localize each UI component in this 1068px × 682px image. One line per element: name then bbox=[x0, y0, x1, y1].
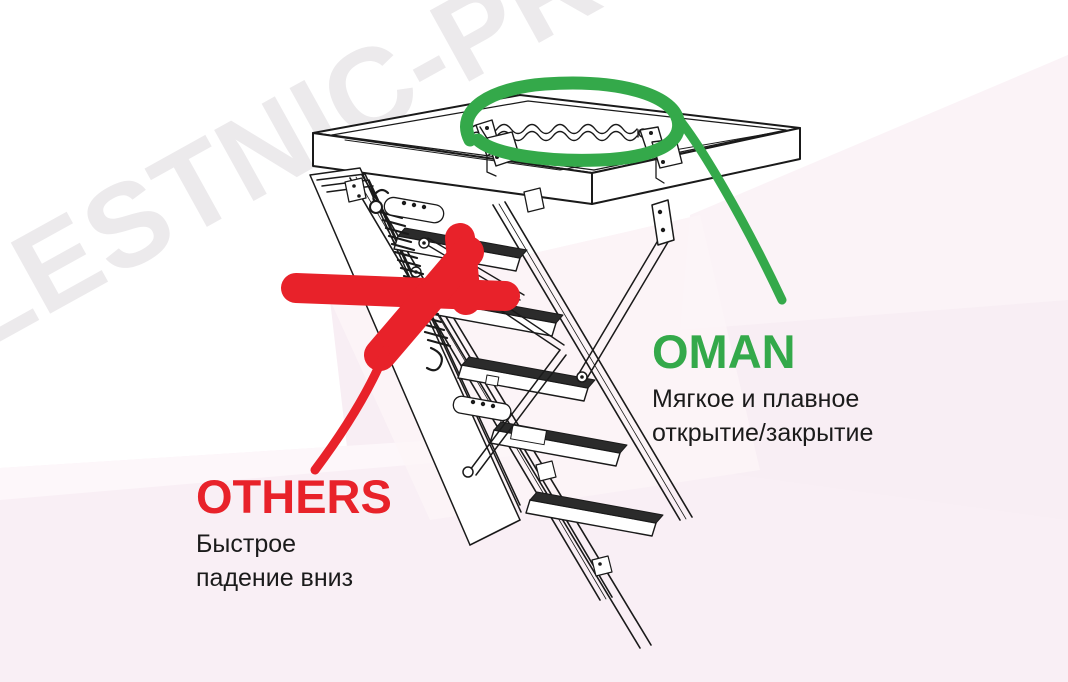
infographic-canvas: LESTNIC-PROSTO.RU bbox=[0, 0, 1068, 682]
ladder-illustration bbox=[0, 0, 1068, 682]
others-subtitle-line-2: падение вниз bbox=[196, 562, 392, 596]
others-subtitle-line-1: Быстрое bbox=[196, 528, 392, 562]
oman-title: OMAN bbox=[652, 328, 873, 375]
others-title: OTHERS bbox=[196, 473, 392, 520]
spring-bracket-plate bbox=[383, 196, 445, 224]
oman-subtitle-line-2: открытие/закрытие bbox=[652, 417, 873, 451]
oman-annotation: OMAN Мягкое и плавное открытие/закрытие bbox=[652, 328, 873, 451]
others-annotation: OTHERS Быстрое падение вниз bbox=[196, 473, 392, 596]
oman-subtitle-line-1: Мягкое и плавное bbox=[652, 383, 873, 417]
